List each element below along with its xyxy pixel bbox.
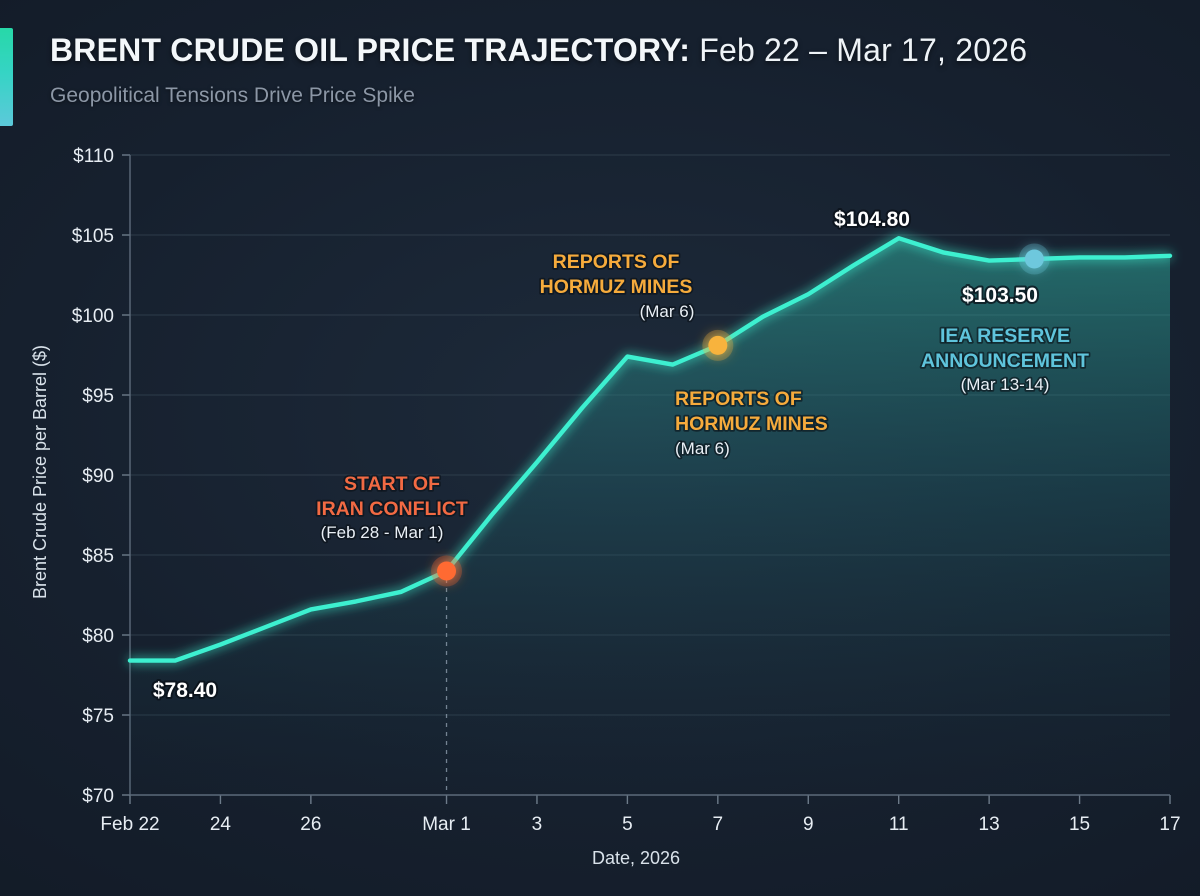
value-label-iea: $103.50 [962, 284, 1038, 307]
annotation-iran-line2: IRAN CONFLICT [316, 498, 468, 520]
value-label-peak: $104.80 [834, 208, 910, 231]
annotation-hormuz-lower-line1: REPORTS OF [675, 388, 802, 410]
annotation-hormuz-lower-line2: HORMUZ MINES [675, 413, 828, 435]
x-tick-label: 26 [300, 814, 321, 835]
x-tick-label: 13 [979, 814, 1000, 835]
line-chart-svg: $70$75$80$85$90$95$100$105$110 Feb 22242… [0, 0, 1200, 896]
annotation-iran-conflict: START OF IRAN CONFLICT (Feb 28 - Mar 1) [316, 473, 468, 542]
annotation-hormuz-upper-line2: HORMUZ MINES [540, 276, 693, 298]
annotation-iran-line1: START OF [344, 473, 440, 495]
y-tick-label: $85 [82, 546, 114, 567]
x-tick-label: Mar 1 [422, 814, 471, 835]
x-tick-label: 3 [532, 814, 543, 835]
annotation-hormuz-upper-sub: (Mar 6) [640, 302, 695, 321]
x-tick-label: 9 [803, 814, 814, 835]
annotation-iran-sub: (Feb 28 - Mar 1) [321, 523, 444, 542]
x-tick-label: Feb 22 [100, 814, 159, 835]
y-axis-ticks: $70$75$80$85$90$95$100$105$110 [72, 146, 130, 807]
annotation-hormuz-upper: REPORTS OF HORMUZ MINES (Mar 6) [540, 251, 695, 321]
annotation-iea-sub: (Mar 13-14) [961, 375, 1050, 394]
x-tick-label: 24 [210, 814, 232, 835]
x-tick-label: 7 [713, 814, 724, 835]
chart-canvas: $70$75$80$85$90$95$100$105$110 Feb 22242… [0, 0, 1200, 896]
event-marker-dot[interactable] [1025, 250, 1044, 269]
value-label-start: $78.40 [153, 679, 217, 702]
event-marker-dot[interactable] [708, 336, 727, 355]
y-tick-label: $105 [72, 226, 114, 247]
y-tick-label: $80 [82, 626, 114, 647]
x-tick-label: 15 [1069, 814, 1090, 835]
area-fill [130, 238, 1170, 795]
x-axis-title: Date, 2026 [592, 848, 680, 868]
x-axis-ticks: Feb 222426Mar 1357911131517 [100, 795, 1180, 835]
annotation-iea-line1: IEA RESERVE [940, 325, 1070, 347]
y-tick-label: $90 [82, 466, 114, 487]
annotation-hormuz-upper-line1: REPORTS OF [553, 251, 680, 273]
y-axis-title: Brent Crude Price per Barrel ($) [30, 345, 50, 599]
event-marker-dot[interactable] [437, 562, 456, 581]
y-tick-label: $95 [82, 386, 114, 407]
annotation-hormuz-lower-sub: (Mar 6) [675, 439, 730, 458]
x-tick-label: 17 [1159, 814, 1180, 835]
y-tick-label: $75 [82, 706, 114, 727]
annotation-iea-line2: ANNOUNCEMENT [921, 350, 1089, 372]
x-tick-label: 5 [622, 814, 633, 835]
x-tick-label: 11 [889, 814, 909, 835]
y-tick-label: $70 [82, 786, 114, 807]
y-tick-label: $110 [73, 146, 114, 167]
y-tick-label: $100 [72, 306, 114, 327]
